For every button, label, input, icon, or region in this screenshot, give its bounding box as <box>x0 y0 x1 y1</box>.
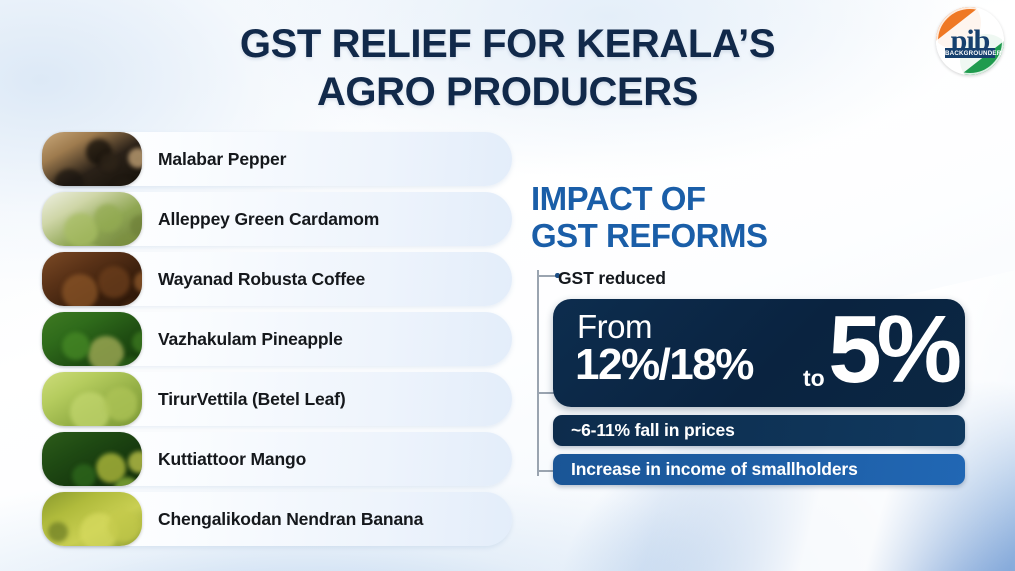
page-title-line-1: GST RELIEF FOR KERALA’S <box>240 22 775 66</box>
impact-heading-line-1: IMPACT OF <box>531 180 706 217</box>
product-list-item-label: Kuttiattoor Mango <box>158 449 306 470</box>
product-list-item-label: Malabar Pepper <box>158 149 286 170</box>
product-list-item[interactable]: Kuttiattoor Mango <box>42 432 512 486</box>
nendran-banana-bunch-thumbnail <box>42 492 142 546</box>
outcome-bar-income-increase-label: Increase in income of smallholders <box>571 459 858 480</box>
page-title-line-2: AGRO PRODUCERS <box>0 68 1015 116</box>
product-list-item[interactable]: TirurVettila (Betel Leaf) <box>42 372 512 426</box>
product-list-item[interactable]: Alleppey Green Cardamom <box>42 192 512 246</box>
outcome-bar-income-increase: Increase in income of smallholders <box>553 454 965 485</box>
product-list-item[interactable]: Vazhakulam Pineapple <box>42 312 512 366</box>
rate-to-label: to <box>803 367 825 390</box>
pineapple-plant-thumbnail <box>42 312 142 366</box>
product-list-item-label: Wayanad Robusta Coffee <box>158 269 365 290</box>
product-list: Malabar PepperAlleppey Green CardamomWay… <box>42 132 512 552</box>
product-list-item[interactable]: Chengalikodan Nendran Banana <box>42 492 512 546</box>
gst-rate-callout-box: From 12%/18% to 5% <box>553 299 965 407</box>
connector-vertical-line <box>537 270 539 476</box>
page-title: GST RELIEF FOR KERALA’S AGRO PRODUCERS <box>0 20 1015 116</box>
product-list-item-label: TirurVettila (Betel Leaf) <box>158 389 346 410</box>
product-list-item[interactable]: Malabar Pepper <box>42 132 512 186</box>
mangoes-on-tree-thumbnail <box>42 432 142 486</box>
rate-new-value: 5% <box>828 302 957 398</box>
rate-from-label: From <box>577 310 652 343</box>
rate-old-values: 12%/18% <box>575 343 753 387</box>
product-list-item-label: Chengalikodan Nendran Banana <box>158 509 423 530</box>
ground-coffee-and-beans-thumbnail <box>42 252 142 306</box>
impact-heading-line-2: GST REFORMS <box>531 217 768 254</box>
black-pepper-in-wooden-bowl-thumbnail <box>42 132 142 186</box>
outcome-bar-price-fall: ~6-11% fall in prices <box>553 415 965 446</box>
product-list-item-label: Alleppey Green Cardamom <box>158 209 379 230</box>
connector-branch-1 <box>537 275 556 277</box>
impact-heading: IMPACT OF GST REFORMS <box>531 180 768 254</box>
gst-reduced-label: GST reduced <box>558 268 666 289</box>
product-list-item-label: Vazhakulam Pineapple <box>158 329 343 350</box>
infographic-canvas: pib BACKGROUNDERS GST RELIEF FOR KERALA’… <box>0 0 1015 571</box>
outcome-bar-price-fall-label: ~6-11% fall in prices <box>571 420 735 441</box>
product-list-item[interactable]: Wayanad Robusta Coffee <box>42 252 512 306</box>
betel-leaves-thumbnail <box>42 372 142 426</box>
green-cardamom-pods-thumbnail <box>42 192 142 246</box>
